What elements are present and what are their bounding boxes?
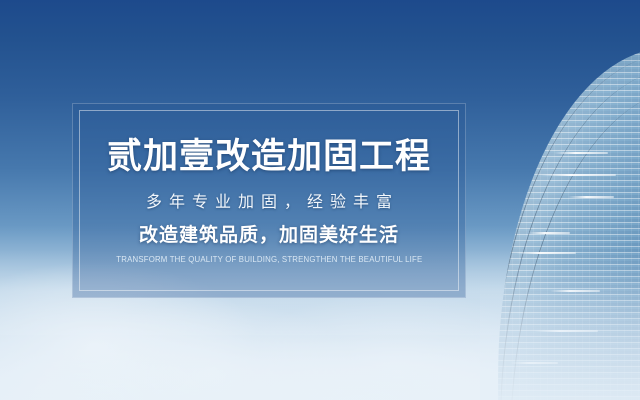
window-reflection-streak: [540, 174, 616, 176]
hero-banner: 贰加壹改造加固工程 多年专业加固，经验丰富 改造建筑品质，加固美好生活 TRAN…: [0, 0, 640, 400]
window-reflection-streak: [554, 152, 608, 154]
banner-slogan: 改造建筑品质，加固美好生活: [139, 225, 399, 248]
banner-title: 贰加壹改造加固工程: [107, 137, 431, 177]
banner-text-block: 贰加壹改造加固工程 多年专业加固，经验丰富 改造建筑品质，加固美好生活 TRAN…: [72, 103, 466, 298]
window-reflection-streak: [528, 232, 570, 234]
banner-english-tagline: TRANSFORM THE QUALITY OF BUILDING, STREN…: [116, 254, 422, 264]
banner-subtitle: 多年专业加固，经验丰富: [139, 193, 399, 212]
window-reflection-streak: [568, 196, 614, 198]
